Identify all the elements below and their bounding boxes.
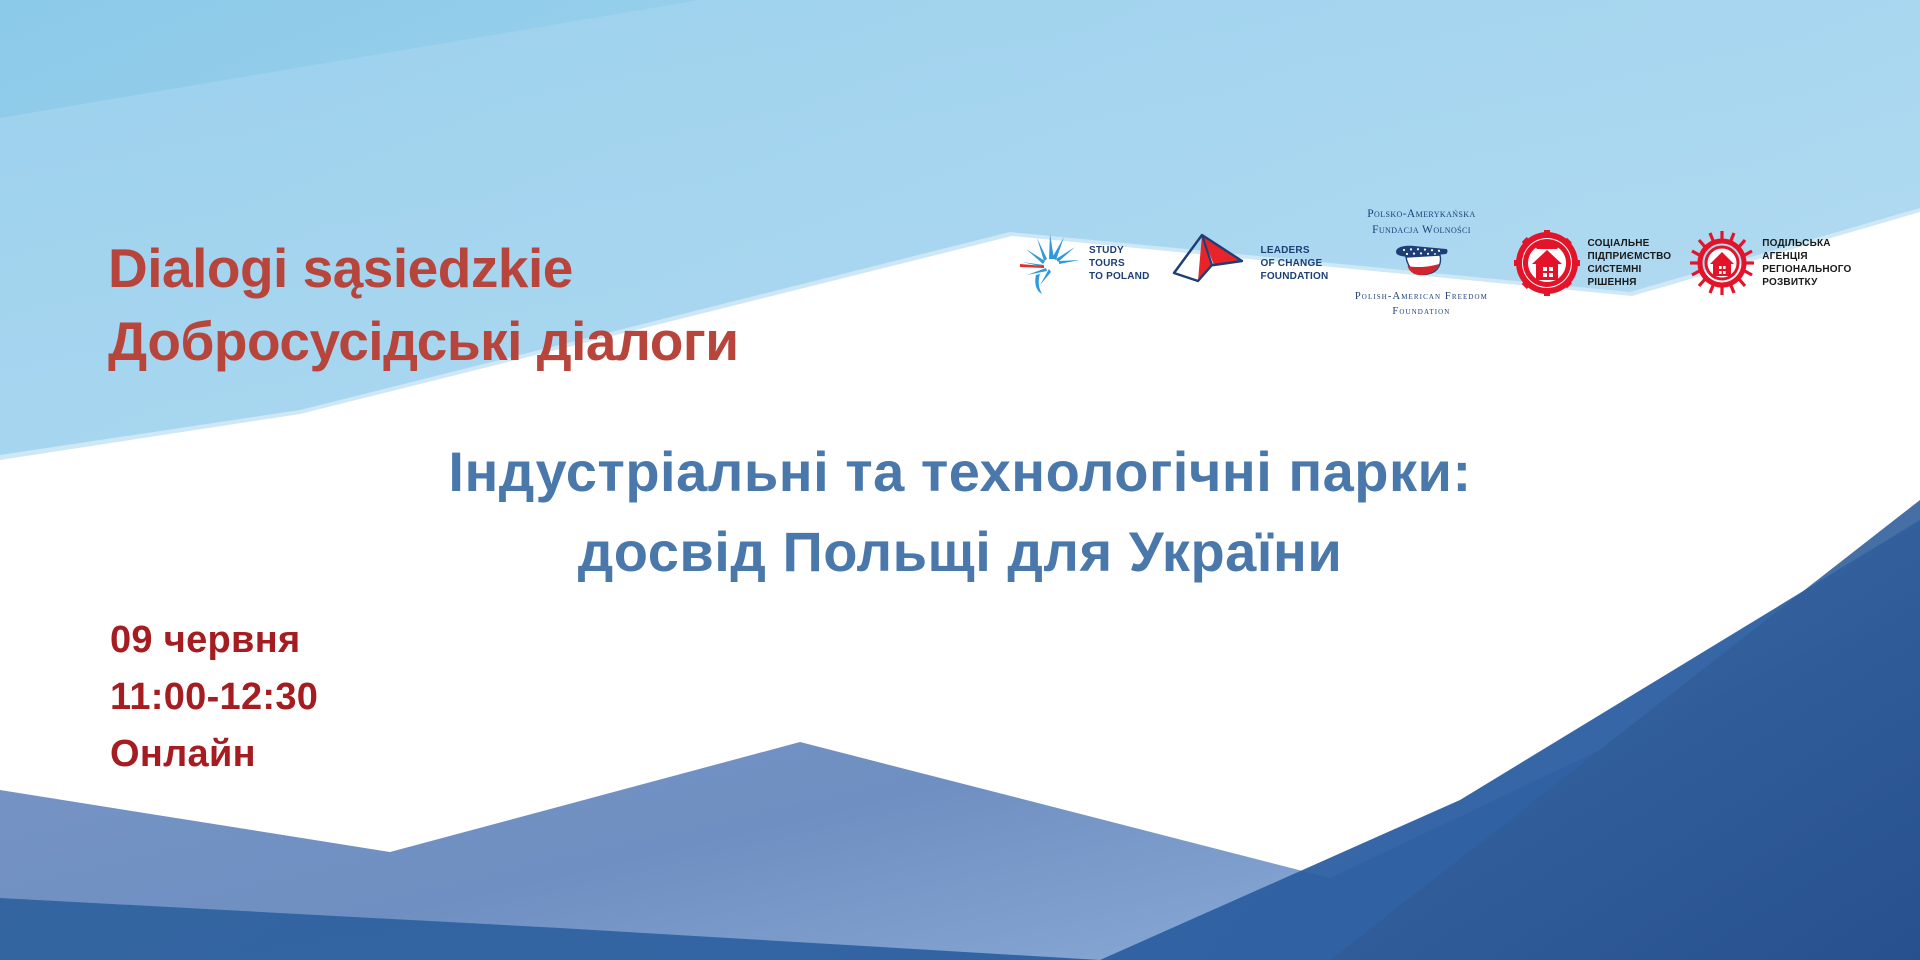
study-tours-burst-icon bbox=[1020, 231, 1082, 295]
logo-podillia-agency: ПОДІЛЬСЬКА АГЕНЦІЯ РЕГІОНАЛЬНОГО РОЗВИТК… bbox=[1689, 230, 1851, 296]
partner-logos: STUDY TOURS TO POLAND LEADERS OF CHANGE … bbox=[1020, 198, 1900, 328]
event-date: 09 червня bbox=[110, 612, 318, 669]
logo-leaders-of-change-label: LEADERS OF CHANGE FOUNDATION bbox=[1261, 244, 1329, 283]
programme-title-pl: Dialogi sąsiedzkie bbox=[108, 232, 1008, 305]
pafw-polish-name: Polsko-Amerykańska Fundacja Wolności bbox=[1346, 207, 1496, 238]
logo-polish-american-freedom-foundation: Polsko-Amerykańska Fundacja Wolności Pol… bbox=[1346, 207, 1496, 318]
logo-social-enterprise: СОЦІАЛЬНЕ ПІДПРИЄМСТВО СИСТЕМНІ РІШЕННЯ bbox=[1514, 230, 1671, 296]
pafw-english-name: Polish-American Freedom Foundation bbox=[1346, 290, 1496, 318]
gear-house-icon bbox=[1514, 230, 1580, 296]
event-banner: Dialogi sąsiedzkie Добросусідські діалог… bbox=[0, 0, 1920, 960]
logo-social-enterprise-label: СОЦІАЛЬНЕ ПІДПРИЄМСТВО СИСТЕМНІ РІШЕННЯ bbox=[1587, 237, 1671, 289]
programme-title: Dialogi sąsiedzkie Добросусідські діалог… bbox=[108, 232, 1008, 377]
logo-study-tours-label: STUDY TOURS TO POLAND bbox=[1089, 244, 1150, 283]
event-time: 11:00-12:30 bbox=[110, 669, 318, 726]
headline-line-2: досвід Польщі для України bbox=[180, 512, 1740, 592]
event-headline: Індустріальні та технологічні парки: дос… bbox=[180, 432, 1740, 591]
programme-title-ua: Добросусідські діалоги bbox=[108, 305, 1008, 378]
event-details: 09 червня 11:00-12:30 Онлайн bbox=[110, 612, 318, 783]
logo-leaders-of-change: LEADERS OF CHANGE FOUNDATION bbox=[1168, 231, 1329, 295]
paper-plane-icon bbox=[1168, 231, 1254, 295]
radial-gear-house-icon bbox=[1689, 230, 1755, 296]
event-format: Онлайн bbox=[110, 726, 318, 783]
headline-line-1: Індустріальні та технологічні парки: bbox=[180, 432, 1740, 512]
logo-study-tours-to-poland: STUDY TOURS TO POLAND bbox=[1020, 231, 1150, 295]
logo-podillia-agency-label: ПОДІЛЬСЬКА АГЕНЦІЯ РЕГІОНАЛЬНОГО РОЗВИТК… bbox=[1762, 237, 1851, 289]
pafw-flag-icon bbox=[1390, 242, 1452, 286]
